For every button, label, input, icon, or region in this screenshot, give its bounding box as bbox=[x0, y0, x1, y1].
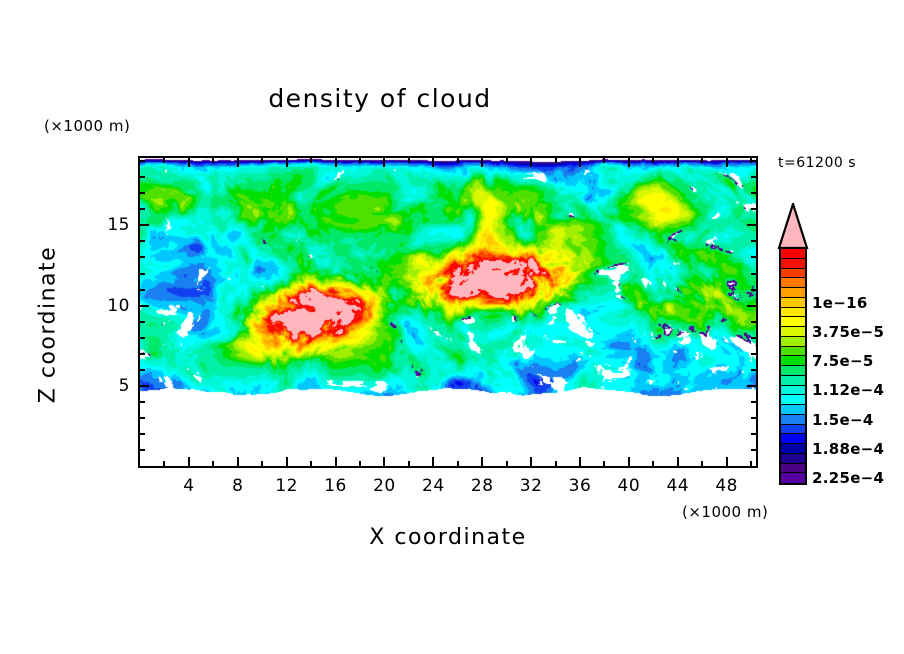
colorbar-band bbox=[781, 317, 805, 327]
x-tick-major bbox=[188, 457, 190, 466]
x-tick-major bbox=[335, 158, 337, 167]
x-tick-minor bbox=[261, 158, 263, 163]
x-tick-minor bbox=[506, 158, 508, 163]
y-tick-minor bbox=[751, 176, 756, 178]
x-tick-minor bbox=[310, 158, 312, 163]
x-tick-minor bbox=[163, 158, 165, 163]
colorbar-band bbox=[781, 347, 805, 357]
colorbar-band bbox=[781, 278, 805, 288]
x-tick-minor bbox=[603, 158, 605, 163]
x-tick-major bbox=[726, 158, 728, 167]
x-tick-minor bbox=[212, 461, 214, 466]
x-tick-minor bbox=[603, 461, 605, 466]
y-tick-minor bbox=[751, 160, 756, 162]
colorbar-band bbox=[781, 298, 805, 308]
colorbar-tick-label: 1.88e−4 bbox=[812, 440, 884, 458]
x-tick-major bbox=[628, 158, 630, 167]
x-tick-minor bbox=[701, 158, 703, 163]
y-tick-minor bbox=[751, 240, 756, 242]
x-tick-minor bbox=[310, 461, 312, 466]
x-tick-major bbox=[481, 158, 483, 167]
y-tick-minor bbox=[751, 289, 756, 291]
x-tick-minor bbox=[555, 461, 557, 466]
colorbar-band bbox=[781, 249, 805, 259]
colorbar-band bbox=[781, 454, 805, 464]
colorbar-band bbox=[781, 337, 805, 347]
colorbar-overflow-arrow bbox=[777, 203, 809, 249]
y-tick-minor bbox=[751, 273, 756, 275]
x-tick-minor bbox=[652, 158, 654, 163]
x-axis-unit-label: (×1000 m) bbox=[682, 503, 768, 521]
x-tick-major bbox=[530, 158, 532, 167]
x-tick-minor bbox=[359, 461, 361, 466]
x-tick-major bbox=[286, 457, 288, 466]
x-tick-major bbox=[481, 457, 483, 466]
colorbar-labels: 2.25e−41.88e−41.5e−41.12e−47.5e−53.75e−5… bbox=[812, 203, 904, 488]
y-tick-minor bbox=[140, 273, 145, 275]
x-tick-minor bbox=[163, 461, 165, 466]
y-tick-major bbox=[140, 224, 149, 226]
colorbar-band bbox=[781, 366, 805, 376]
colorbar-tick-label: 7.5e−5 bbox=[812, 352, 874, 370]
colorbar-band bbox=[781, 288, 805, 298]
x-tick-major bbox=[530, 457, 532, 466]
x-tick-minor bbox=[359, 158, 361, 163]
x-tick-major bbox=[579, 457, 581, 466]
x-tick-minor bbox=[750, 461, 752, 466]
x-tick-label: 16 bbox=[324, 476, 347, 496]
colorbar-band bbox=[781, 415, 805, 425]
y-tick-minor bbox=[751, 449, 756, 451]
x-tick-minor bbox=[701, 461, 703, 466]
y-tick-minor bbox=[751, 417, 756, 419]
y-tick-minor bbox=[140, 433, 145, 435]
x-tick-major bbox=[383, 158, 385, 167]
x-tick-label: 32 bbox=[520, 476, 543, 496]
y-tick-minor bbox=[751, 337, 756, 339]
x-tick-label: 28 bbox=[471, 476, 494, 496]
y-tick-minor bbox=[140, 176, 145, 178]
y-tick-minor bbox=[140, 160, 145, 162]
y-tick-minor bbox=[140, 369, 145, 371]
x-tick-minor bbox=[212, 158, 214, 163]
x-tick-minor bbox=[506, 461, 508, 466]
x-tick-major bbox=[432, 457, 434, 466]
x-tick-label: 4 bbox=[183, 476, 194, 496]
x-tick-minor bbox=[457, 158, 459, 163]
cloud-density-field bbox=[140, 158, 756, 466]
x-tick-major bbox=[432, 158, 434, 167]
y-tick-minor bbox=[751, 192, 756, 194]
colorbar-band bbox=[781, 434, 805, 444]
y-tick-label: 10 bbox=[86, 296, 130, 316]
colorbar-band bbox=[781, 405, 805, 415]
y-tick-minor bbox=[140, 192, 145, 194]
x-tick-label: 20 bbox=[373, 476, 396, 496]
x-tick-major bbox=[188, 158, 190, 167]
y-tick-minor bbox=[751, 401, 756, 403]
y-tick-minor bbox=[751, 256, 756, 258]
colorbar-band bbox=[781, 356, 805, 366]
y-tick-minor bbox=[140, 240, 145, 242]
x-tick-major bbox=[726, 457, 728, 466]
y-tick-minor bbox=[140, 256, 145, 258]
x-tick-label: 24 bbox=[422, 476, 445, 496]
y-axis-unit-label: (×1000 m) bbox=[44, 117, 130, 135]
x-tick-minor bbox=[555, 158, 557, 163]
y-tick-major bbox=[747, 385, 756, 387]
y-tick-minor bbox=[140, 321, 145, 323]
x-tick-label: 40 bbox=[618, 476, 641, 496]
y-tick-minor bbox=[140, 449, 145, 451]
y-tick-major bbox=[140, 385, 149, 387]
colorbar-band bbox=[781, 425, 805, 435]
time-annotation: t=61200 s bbox=[778, 155, 856, 171]
x-tick-minor bbox=[261, 461, 263, 466]
x-tick-major bbox=[335, 457, 337, 466]
y-tick-minor bbox=[140, 417, 145, 419]
x-tick-label: 8 bbox=[232, 476, 243, 496]
x-tick-major bbox=[383, 457, 385, 466]
y-tick-minor bbox=[140, 337, 145, 339]
x-tick-minor bbox=[408, 461, 410, 466]
x-tick-label: 36 bbox=[569, 476, 592, 496]
colorbar-bands bbox=[779, 247, 807, 485]
y-tick-minor bbox=[751, 369, 756, 371]
colorbar-tick-label: 1e−16 bbox=[812, 294, 868, 312]
y-tick-minor bbox=[751, 433, 756, 435]
x-tick-major bbox=[677, 158, 679, 167]
x-tick-label: 12 bbox=[275, 476, 298, 496]
colorbar-tick-label: 2.25e−4 bbox=[812, 469, 884, 487]
y-tick-label: 5 bbox=[86, 376, 130, 396]
colorbar-band bbox=[781, 444, 805, 454]
colorbar-band bbox=[781, 376, 805, 386]
y-tick-major bbox=[747, 224, 756, 226]
colorbar-band bbox=[781, 386, 805, 396]
figure-root: density of cloud (×1000 m) (×1000 m) t=6… bbox=[0, 0, 904, 654]
colorbar-band bbox=[781, 269, 805, 279]
x-tick-major bbox=[237, 457, 239, 466]
colorbar-band bbox=[781, 395, 805, 405]
x-tick-minor bbox=[457, 461, 459, 466]
y-tick-major bbox=[747, 305, 756, 307]
colorbar-band bbox=[781, 473, 805, 483]
x-tick-minor bbox=[408, 158, 410, 163]
x-tick-major bbox=[286, 158, 288, 167]
colorbar bbox=[777, 203, 809, 488]
y-tick-minor bbox=[751, 208, 756, 210]
y-tick-minor bbox=[751, 321, 756, 323]
x-tick-minor bbox=[652, 461, 654, 466]
x-axis-title: X coordinate bbox=[0, 525, 896, 550]
colorbar-band bbox=[781, 327, 805, 337]
x-tick-label: 48 bbox=[715, 476, 738, 496]
colorbar-band bbox=[781, 464, 805, 474]
y-tick-minor bbox=[751, 353, 756, 355]
x-tick-major bbox=[677, 457, 679, 466]
x-tick-major bbox=[579, 158, 581, 167]
y-axis-title: Z coordinate bbox=[36, 225, 61, 425]
colorbar-band bbox=[781, 259, 805, 269]
y-tick-minor bbox=[140, 353, 145, 355]
colorbar-tick-label: 1.12e−4 bbox=[812, 381, 884, 399]
y-tick-label: 15 bbox=[86, 215, 130, 235]
y-tick-minor bbox=[140, 289, 145, 291]
x-tick-major bbox=[237, 158, 239, 167]
y-tick-minor bbox=[140, 208, 145, 210]
plot-area bbox=[138, 156, 758, 468]
x-tick-label: 44 bbox=[666, 476, 689, 496]
colorbar-tick-label: 3.75e−5 bbox=[812, 323, 884, 341]
colorbar-tick-label: 1.5e−4 bbox=[812, 411, 874, 429]
y-tick-major bbox=[140, 305, 149, 307]
y-tick-minor bbox=[140, 401, 145, 403]
page-title: density of cloud bbox=[0, 84, 760, 113]
colorbar-band bbox=[781, 308, 805, 318]
x-tick-major bbox=[628, 457, 630, 466]
